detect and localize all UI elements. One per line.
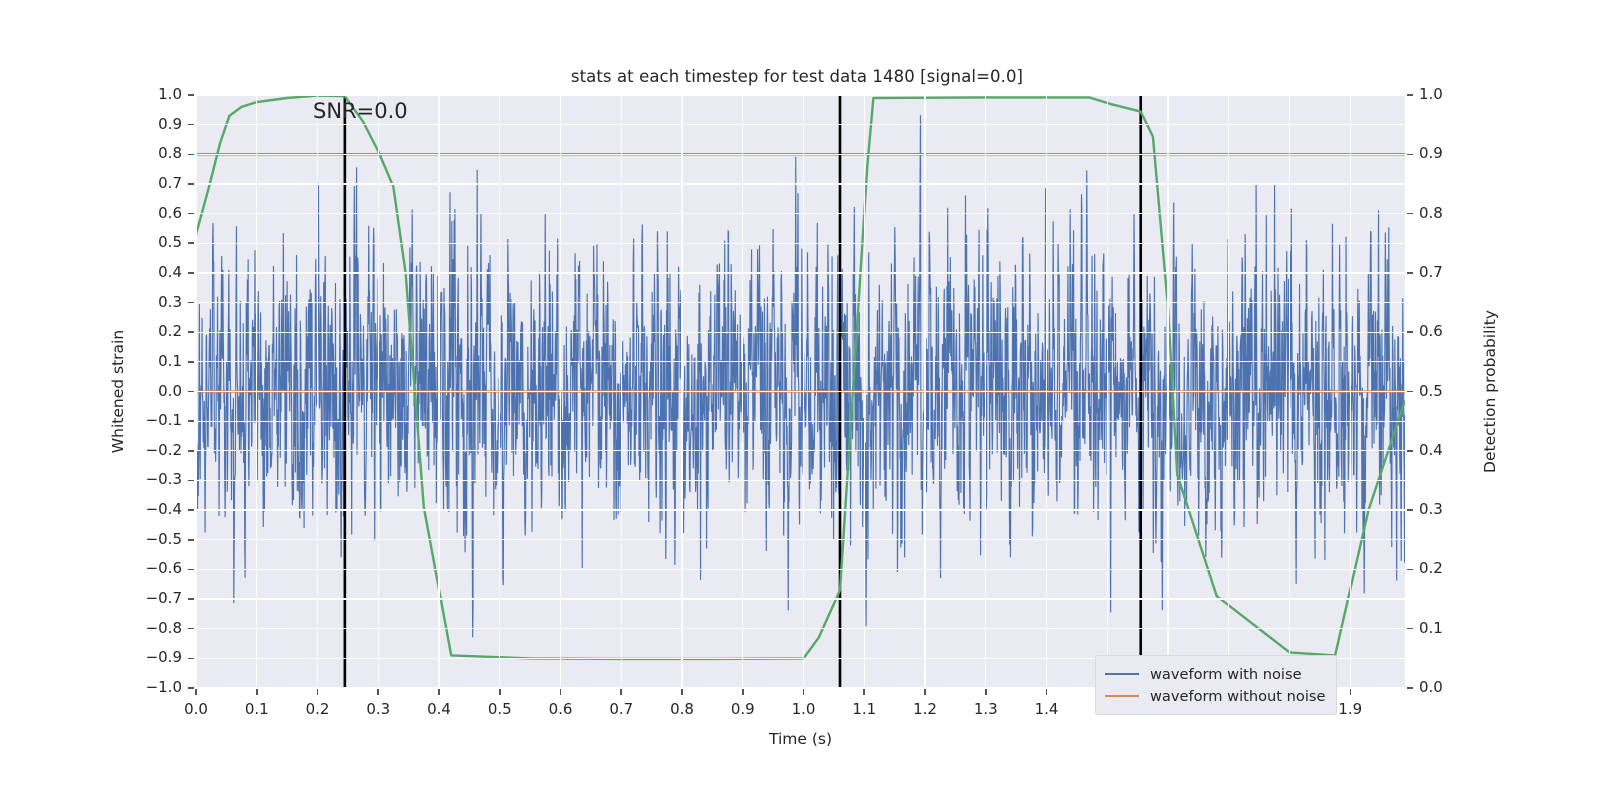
right-tick-mark [1407,272,1413,274]
left-tick-mark [188,272,194,274]
right-tick-mark [1407,628,1413,630]
x-tick-label: 0.1 [227,700,287,718]
left-tick-mark [188,420,194,422]
right-tick-label: 0.4 [1419,441,1443,459]
x-tick-mark [317,689,319,695]
x-tick-label: 1.1 [834,700,894,718]
left-axis-label: Whitened strain [109,95,127,688]
x-tick-mark [803,689,805,695]
gridline-vertical [742,95,743,688]
x-tick-mark [1046,689,1048,695]
snr-annotation: SNR=0.0 [313,99,408,123]
left-tick-label: 0.6 [158,204,182,222]
gridline-vertical [438,95,439,688]
left-tick-mark [188,687,194,689]
x-tick-mark [438,689,440,695]
gridline-vertical [1289,95,1290,688]
left-tick-mark [188,94,194,96]
left-tick-label: 0.5 [158,233,182,251]
right-tick-label: 0.1 [1419,619,1443,637]
legend-label: waveform without noise [1150,688,1325,705]
legend-item[interactable]: waveform with noise [1105,663,1325,685]
right-tick-label: 0.7 [1419,263,1443,281]
left-tick-label: 0.1 [158,352,182,370]
left-tick-mark [188,569,194,571]
x-tick-label: 1.4 [1017,700,1077,718]
right-tick-mark [1407,94,1413,96]
gridline-vertical [560,95,561,688]
left-tick-mark [188,598,194,600]
x-tick-mark [742,689,744,695]
right-tick-mark [1407,213,1413,215]
left-tick-label: −1.0 [146,678,182,696]
gridline-vertical [499,95,500,688]
left-tick-mark [188,628,194,630]
left-tick-label: 0.4 [158,263,182,281]
left-tick-mark [188,391,194,393]
left-tick-mark [188,480,194,482]
gridline-vertical [317,95,318,688]
gridline-vertical [803,95,804,688]
x-tick-mark [256,689,258,695]
right-tick-label: 1.0 [1419,85,1443,103]
left-tick-label: −0.6 [146,559,182,577]
right-tick-label: 0.0 [1419,678,1443,696]
right-tick-mark [1407,569,1413,571]
left-tick-mark [188,213,194,215]
left-tick-label: 0.7 [158,174,182,192]
right-tick-mark [1407,509,1413,511]
legend-label: waveform with noise [1150,666,1302,683]
x-tick-label: 0.0 [166,700,226,718]
right-tick-label: 0.9 [1419,144,1443,162]
plot-area [196,95,1405,688]
x-tick-mark [924,689,926,695]
right-tick-mark [1407,450,1413,452]
x-tick-label: 1.0 [774,700,834,718]
left-tick-label: 0.0 [158,382,182,400]
x-tick-mark [620,689,622,695]
x-tick-label: 0.4 [409,700,469,718]
gridline-vertical [924,95,925,688]
right-tick-label: 0.3 [1419,500,1443,518]
legend-swatch [1105,673,1139,675]
left-tick-mark [188,658,194,660]
x-tick-mark [195,689,197,695]
left-tick-mark [188,361,194,363]
legend-swatch [1105,695,1139,697]
left-tick-mark [188,154,194,156]
left-tick-mark [188,124,194,126]
right-tick-label: 0.6 [1419,322,1443,340]
right-tick-mark [1407,331,1413,333]
x-tick-label: 0.2 [288,700,348,718]
x-tick-mark [560,689,562,695]
gridline-vertical [378,95,379,688]
gridline-vertical [681,95,682,688]
left-tick-mark [188,450,194,452]
left-tick-mark [188,331,194,333]
gridline-vertical [864,95,865,688]
chart-title-text: stats at each timestep for test data 148… [571,67,1023,86]
x-tick-mark [377,689,379,695]
left-tick-label: −0.7 [146,589,182,607]
x-tick-mark [499,689,501,695]
gridline-vertical [1107,95,1108,688]
legend-item[interactable]: waveform without noise [1105,685,1325,707]
figure-canvas: stats at each timestep for test data 148… [0,0,1600,800]
gridline-vertical [196,95,197,688]
legend[interactable]: waveform with noisewaveform without nois… [1095,655,1337,715]
left-tick-label: 1.0 [158,85,182,103]
x-tick-label: 0.5 [470,700,530,718]
x-tick-label: 0.9 [713,700,773,718]
gridline-vertical [621,95,622,688]
x-tick-mark [681,689,683,695]
left-tick-label: −0.3 [146,470,182,488]
gridline-vertical [1350,95,1351,688]
right-tick-label: 0.5 [1419,382,1443,400]
right-tick-mark [1407,687,1413,689]
left-tick-mark [188,509,194,511]
gridline-vertical [256,95,257,688]
gridline-vertical [1167,95,1168,688]
x-tick-label: 1.2 [895,700,955,718]
gridline-vertical [985,95,986,688]
left-tick-label: 0.3 [158,293,182,311]
x-tick-label: 0.3 [348,700,408,718]
chart-title: stats at each timestep for test data 148… [0,67,1600,86]
left-tick-mark [188,302,194,304]
left-tick-label: −0.9 [146,648,182,666]
left-tick-mark [188,539,194,541]
x-tick-label: 1.3 [956,700,1016,718]
right-axis-label: Detection probability [1481,95,1499,688]
right-tick-mark [1407,391,1413,393]
left-tick-mark [188,183,194,185]
left-tick-label: −0.4 [146,500,182,518]
x-tick-mark [1350,689,1352,695]
left-tick-label: 0.2 [158,322,182,340]
x-tick-mark [985,689,987,695]
left-tick-label: 0.9 [158,115,182,133]
gridline-vertical [1228,95,1229,688]
left-tick-label: −0.2 [146,441,182,459]
left-tick-mark [188,242,194,244]
x-tick-label: 0.8 [652,700,712,718]
right-tick-mark [1407,154,1413,156]
left-tick-label: −0.8 [146,619,182,637]
x-tick-mark [863,689,865,695]
left-tick-label: −0.5 [146,530,182,548]
x-tick-label: 0.7 [591,700,651,718]
right-tick-label: 0.2 [1419,559,1443,577]
left-tick-label: −0.1 [146,411,182,429]
right-tick-label: 0.8 [1419,204,1443,222]
x-tick-label: 0.6 [531,700,591,718]
x-axis-label: Time (s) [196,730,1405,748]
left-tick-label: 0.8 [158,144,182,162]
gridline-vertical [1046,95,1047,688]
